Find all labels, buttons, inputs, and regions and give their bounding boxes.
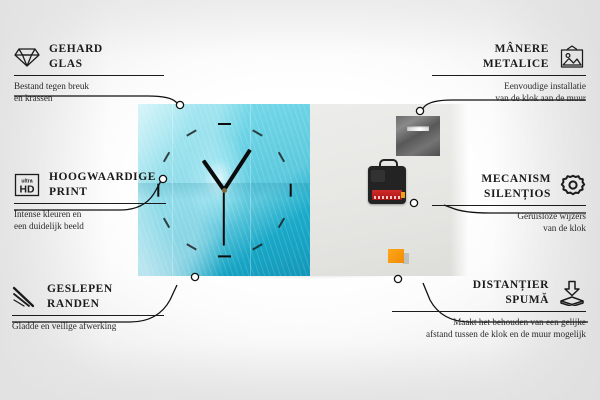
clock-hands-hub — [222, 188, 227, 193]
mechanism-highlight — [371, 170, 385, 182]
callout-rule — [392, 311, 586, 312]
callout-header: GESLEPEN RANDEN — [12, 282, 164, 312]
callout-subtitle: Gladde en veilige afwerking — [12, 320, 164, 332]
mechanism-loop — [379, 159, 398, 170]
callout-title: HOOGWAARDIGE PRINT — [49, 170, 156, 200]
infographic-stage: GEHARD GLAS Bestand tegen breuk en krass… — [0, 0, 600, 400]
battery — [372, 190, 402, 200]
callout-subtitle: Eenvoudige installatie van de klok aan d… — [432, 80, 586, 104]
callout-rule — [14, 75, 164, 76]
hanger-slot — [407, 126, 429, 131]
clock-tick — [218, 255, 231, 257]
callout-header: DISTANȚIER SPUMĂ — [392, 278, 586, 308]
panel-seam — [250, 104, 251, 276]
callout-header: GEHARD GLAS — [14, 42, 164, 72]
ultra-hd-large-label: HD — [19, 184, 35, 195]
callout-header: MECANISM SILENȚIOS — [432, 172, 586, 202]
callout-rule — [432, 205, 586, 206]
panel-seam — [172, 104, 173, 276]
callout-manere-metalice: MÂNERE METALICE Eenvoudige installatie v… — [432, 42, 586, 104]
callout-mecanism-silentios: MECANISM SILENȚIOS Geruisloze wijzers va… — [432, 172, 586, 234]
product-photo — [138, 104, 468, 276]
callout-header: MÂNERE METALICE — [432, 42, 586, 72]
bevelled-edges-icon — [12, 286, 38, 308]
spacer-arrow-icon — [558, 280, 586, 306]
battery-label — [374, 196, 400, 199]
callout-subtitle: Maakt het behouden van een gelijke afsta… — [392, 316, 586, 340]
diamond-icon — [14, 46, 40, 68]
battery-terminal — [401, 192, 405, 198]
callout-rule — [14, 203, 166, 204]
callout-header: ultra HD HOOGWAARDIGE PRINT — [14, 170, 166, 200]
clock-mechanism — [368, 166, 406, 204]
callout-title: DISTANȚIER SPUMĂ — [473, 278, 549, 308]
metal-hanger-plate — [396, 116, 440, 156]
ultra-hd-icon: ultra HD — [14, 173, 40, 197]
clock-tick — [218, 123, 231, 125]
callout-title: MECANISM SILENȚIOS — [481, 172, 551, 202]
callout-title: GESLEPEN RANDEN — [47, 282, 113, 312]
callout-title: GEHARD GLAS — [49, 42, 103, 72]
callout-geslepen-randen: GESLEPEN RANDEN Gladde en veilige afwerk… — [12, 282, 164, 332]
callout-subtitle: Intense kleuren en een duidelijk beeld — [14, 208, 166, 232]
callout-rule — [12, 315, 164, 316]
callout-subtitle: Geruisloze wijzers van de klok — [432, 210, 586, 234]
foam-spacer — [388, 249, 404, 263]
clock-tick — [289, 183, 291, 196]
picture-hanger-icon — [558, 45, 586, 69]
callout-subtitle: Bestand tegen breuk en krassen — [14, 80, 164, 104]
callout-title: MÂNERE METALICE — [483, 42, 549, 72]
gear-icon — [560, 174, 586, 200]
callout-gehard-glas: GEHARD GLAS Bestand tegen breuk en krass… — [14, 42, 164, 104]
callout-hoogwaardige-print: ultra HD HOOGWAARDIGE PRINT Intense kleu… — [14, 170, 166, 232]
second-hand — [223, 190, 225, 246]
callout-rule — [432, 75, 586, 76]
callout-distantier-spuma: DISTANȚIER SPUMĂ Maakt het behouden van … — [392, 278, 586, 340]
